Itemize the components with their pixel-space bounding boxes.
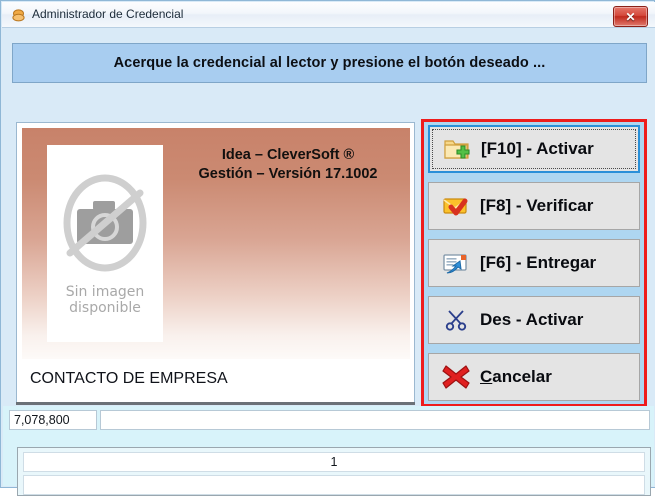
desactivar-button[interactable]: Des - Activar [428,296,640,344]
close-button[interactable]: ✕ [613,6,648,27]
envelope-send-icon [441,248,471,278]
desactivar-label: Des - Activar [480,310,583,330]
record-number-value: 7,078,800 [14,413,70,427]
no-image-caption: Sin imagen disponible [66,284,145,316]
brand-line-1: Idea – CleverSoft ® [170,146,406,165]
brand-line-2: Gestión – Versión 17.1002 [170,165,406,184]
verificar-label: [F8] - Verificar [480,196,593,216]
cancelar-button[interactable]: Cancelar [428,353,640,401]
card-gradient-background: Sin imagen disponible Idea – CleverSoft … [22,128,410,359]
folder-add-icon [442,134,472,164]
no-image-line-1: Sin imagen [66,284,145,300]
info-group-box: 1 [17,447,651,496]
contact-type-label: CONTACTO DE EMPRESA [22,370,228,388]
brand-block: Idea – CleverSoft ® Gestión – Versión 17… [170,146,406,185]
card-footer: CONTACTO DE EMPRESA [22,359,410,399]
info-row-1[interactable]: 1 [23,452,645,472]
info-row-1-value: 1 [331,455,338,469]
entregar-button[interactable]: [F6] - Entregar [428,239,640,287]
client-area: Acerque la credencial al lector y presio… [2,28,655,487]
title-bar: Administrador de Credencial ✕ [2,2,655,28]
envelope-check-icon [441,191,471,221]
close-icon: ✕ [625,10,635,24]
bottom-status-area: 7,078,800 1 [3,406,654,486]
action-button-panel: [F10] - Activar [F8] - Verificar [421,119,647,407]
instruction-banner: Acerque la credencial al lector y presio… [12,43,647,83]
instruction-text: Acerque la credencial al lector y presio… [114,55,546,71]
separator-bar [16,402,415,405]
no-image-camera-icon [57,171,153,280]
entregar-label: [F6] - Entregar [480,253,596,273]
credential-preview-card: Sin imagen disponible Idea – CleverSoft … [16,122,415,404]
activar-button[interactable]: [F10] - Activar [428,125,640,173]
photo-placeholder: Sin imagen disponible [47,145,163,342]
window-title: Administrador de Credencial [32,7,183,21]
status-text-field[interactable] [100,410,650,430]
cancelar-label: Cancelar [480,367,552,387]
app-window-icon [11,8,26,23]
record-number-field[interactable]: 7,078,800 [9,410,97,430]
verificar-button[interactable]: [F8] - Verificar [428,182,640,230]
credential-manager-window: Administrador de Credencial ✕ Acerque la… [0,0,655,488]
info-row-2[interactable] [23,475,645,495]
cancelar-accel-letter: C [480,367,492,386]
activar-label: [F10] - Activar [481,139,594,159]
scissors-icon [441,305,471,335]
red-x-icon [441,362,471,392]
no-image-line-2: disponible [66,300,145,316]
